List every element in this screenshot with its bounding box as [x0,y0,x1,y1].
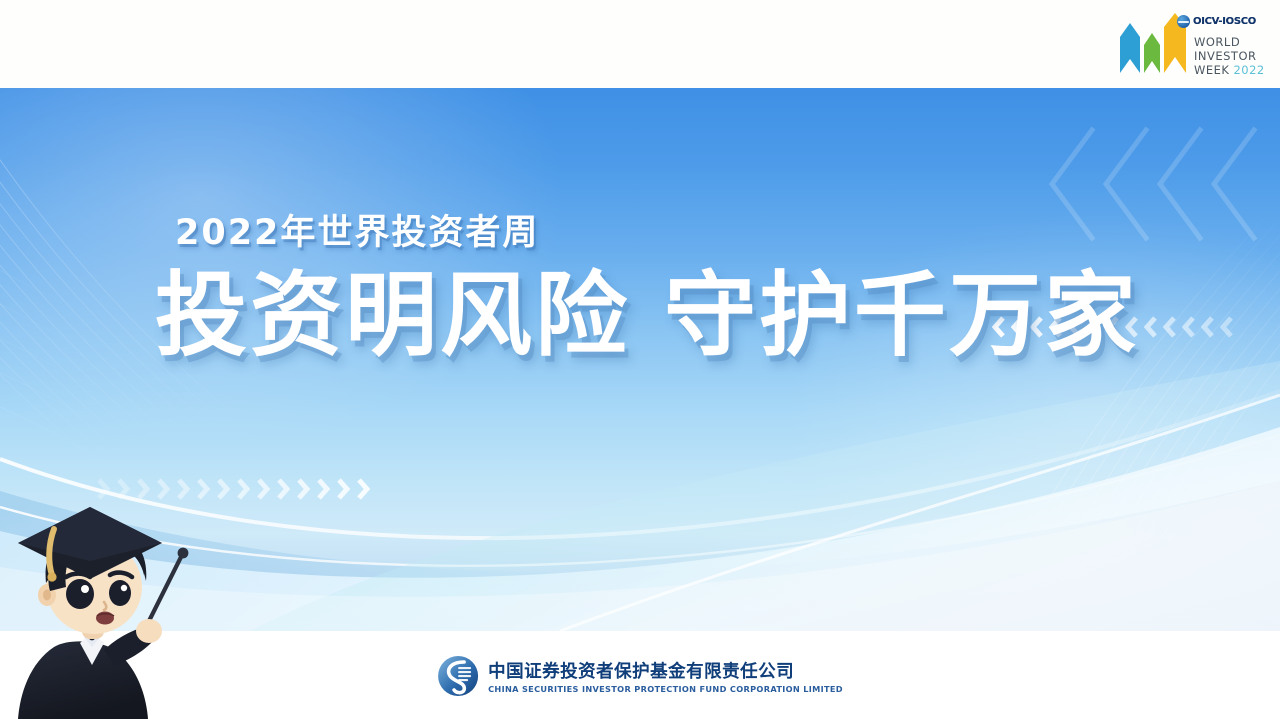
kicker-text: 2022年世界投资者周 [175,204,539,255]
wiw-line-year: 2022 [1233,63,1264,77]
wiw-line-week-row: WEEK 2022 [1194,63,1260,77]
cn-investor-protection-fund-icon [437,655,479,697]
main-headline: 投资明风险守护千万家 [155,266,1139,365]
iosco-globe-icon [1177,15,1190,28]
organization-text: 中国证券投资者保护基金有限责任公司 CHINA SECURITIES INVES… [488,658,843,694]
iosco-logo: OICV-IOSCO [1177,15,1256,28]
headline-left: 投资明风险 [155,262,630,369]
top-header-bar: OICV-IOSCO WORLD INVESTOR WEEK 2022 [0,0,1280,88]
organization-name-cn: 中国证券投资者保护基金有限责任公司 [488,658,843,683]
iosco-wordmark: OICV-IOSCO [1193,16,1256,27]
poster-stage: 2022年世界投资者周 投资明风险守护千万家 [0,0,1280,719]
wiw-line-investor: INVESTOR [1194,49,1260,63]
footer-bar: 中国证券投资者保护基金有限责任公司 CHINA SECURITIES INVES… [0,631,1280,719]
wiw-wordmark: WORLD INVESTOR WEEK 2022 [1194,35,1260,77]
headline-group: 2022年世界投资者周 投资明风险守护千万家 [0,88,1280,631]
wiw-line-world: WORLD [1194,35,1260,49]
organization-lockup: 中国证券投资者保护基金有限责任公司 CHINA SECURITIES INVES… [437,655,843,697]
organization-name-en: CHINA SECURITIES INVESTOR PROTECTION FUN… [488,684,843,694]
headline-right: 守护千万家 [664,262,1139,369]
wiw-line-week: WEEK [1194,63,1229,77]
world-investor-week-logo: OICV-IOSCO WORLD INVESTOR WEEK 2022 [1104,5,1264,83]
hero-banner: 2022年世界投资者周 投资明风险守护千万家 [0,88,1280,631]
